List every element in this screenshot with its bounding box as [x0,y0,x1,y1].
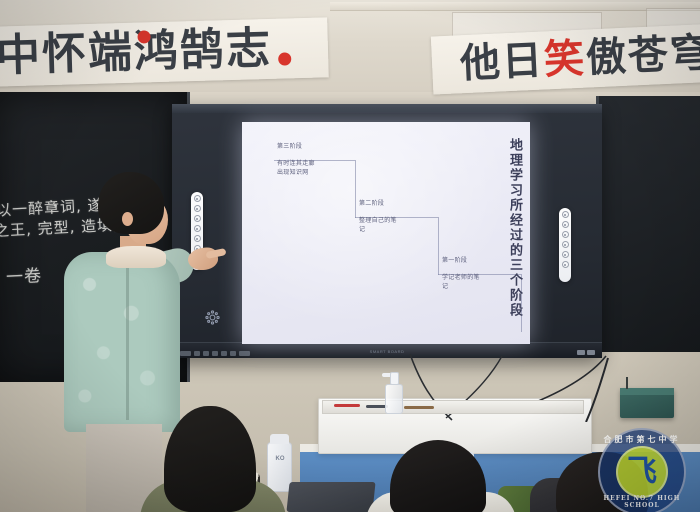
step-1-label: 第一阶段 学记老师的笔 记 [442,248,480,291]
step-2-title: 第二阶段 [359,200,384,207]
step-3-title: 第三阶段 [277,143,302,150]
shapes-icon[interactable] [194,215,201,222]
floating-toolbar-right[interactable] [559,208,571,282]
hand-sanitizer-bottle [385,384,403,414]
podium-tray [322,400,584,414]
step-3-body: 有时连其走廊 出现知识网 [277,160,315,176]
projected-slide[interactable]: 第三阶段 有时连其走廊 出现知识网 第二阶段 整理自己的笔 记 第一阶段 学记老… [242,122,530,344]
step-3-label: 第三阶段 有时连其走廊 出现知识网 [277,134,315,177]
dark-laptop [286,482,375,512]
step-1-body: 学记老师的笔 记 [442,274,480,290]
teacher-jacket-placket [126,262,129,420]
step-1-title: 第一阶段 [442,257,467,264]
banner-right-accent: 笑 [543,36,587,84]
palette-icon[interactable] [562,251,569,258]
teacher-jacket [64,252,180,432]
chalk-line-3: 一卷 [5,261,42,288]
step-2-body: 整理自己的笔 记 [359,217,397,233]
banner-left: 中怀端鸿鹄志 [0,17,329,86]
banner-right-prefix: 他日 [459,38,545,88]
badge-english-text: HEFEI NO.7 HIGH SCHOOL [600,495,684,509]
thermos-cap [270,434,289,444]
classroom-scene: 中怀端鸿鹄志 他日笑傲苍穹 以一醉章词, 遂伙乡 之王, 完型, 造填, 作文 … [0,0,700,512]
smartboard-top-bezel [172,104,602,113]
teacher-collar [106,246,166,268]
eraser-icon[interactable] [194,205,201,212]
teal-box-antenna [626,377,628,389]
eraser-icon[interactable] [562,221,569,228]
step-2-label: 第二阶段 整理自己的笔 记 [359,191,397,234]
slide-vertical-title: 地理学习所经过的三个阶段 [507,138,521,318]
ceiling-trim [330,2,700,11]
settings-gear-icon[interactable] [204,309,221,326]
teal-box-lid [620,388,674,395]
banner-left-dot-2 [278,52,291,65]
thermos-label: KO [269,456,291,462]
undo-icon[interactable] [194,235,201,242]
banner-left-text: 中怀端鸿鹄志 [0,27,273,79]
school-badge-watermark: 合肥市第七中学 飞 HEFEI NO.7 HIGH SCHOOL [598,428,686,512]
blackboard-right [596,96,700,352]
badge-inner-disc: 飞 [616,446,668,498]
teacher-ear [122,212,133,226]
badge-chinese-text: 合肥市第七中学 [600,434,684,445]
select-icon[interactable] [194,225,201,232]
pen-icon[interactable] [562,211,569,218]
pen-icon[interactable] [194,195,201,202]
undo-icon[interactable] [562,241,569,248]
pointer-stick [404,406,434,409]
banner-right: 他日笑傲苍穹 [431,23,700,94]
more-icon[interactable] [562,261,569,268]
badge-glyph: 飞 [627,457,657,487]
teacher-hair [98,172,164,234]
red-pen [334,404,360,407]
select-icon[interactable] [562,231,569,238]
banner-right-suffix: 傲苍穹 [585,30,700,82]
